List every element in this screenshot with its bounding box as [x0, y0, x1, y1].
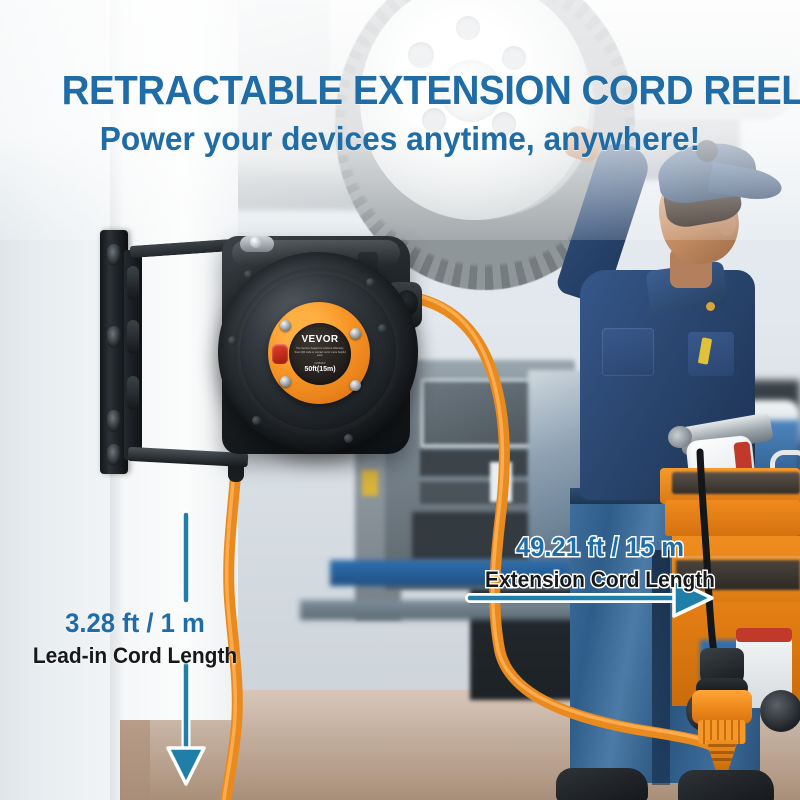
lead-in-length-value: 3.28 ft / 1 m: [16, 608, 254, 639]
extension-length-value: 49.21 ft / 15 m: [467, 532, 733, 563]
product-marketing-image: VEVOR The Service Support Is Lifetime Wa…: [0, 0, 800, 800]
lead-in-length-caption: Lead-in Cord Length: [16, 643, 254, 669]
page-subtitle: Power your devices anytime, anywhere!: [54, 120, 745, 158]
page-title: RETRACTABLE EXTENSION CORD REEL: [62, 70, 739, 111]
extension-length-caption: Extension Cord Length: [467, 567, 733, 593]
